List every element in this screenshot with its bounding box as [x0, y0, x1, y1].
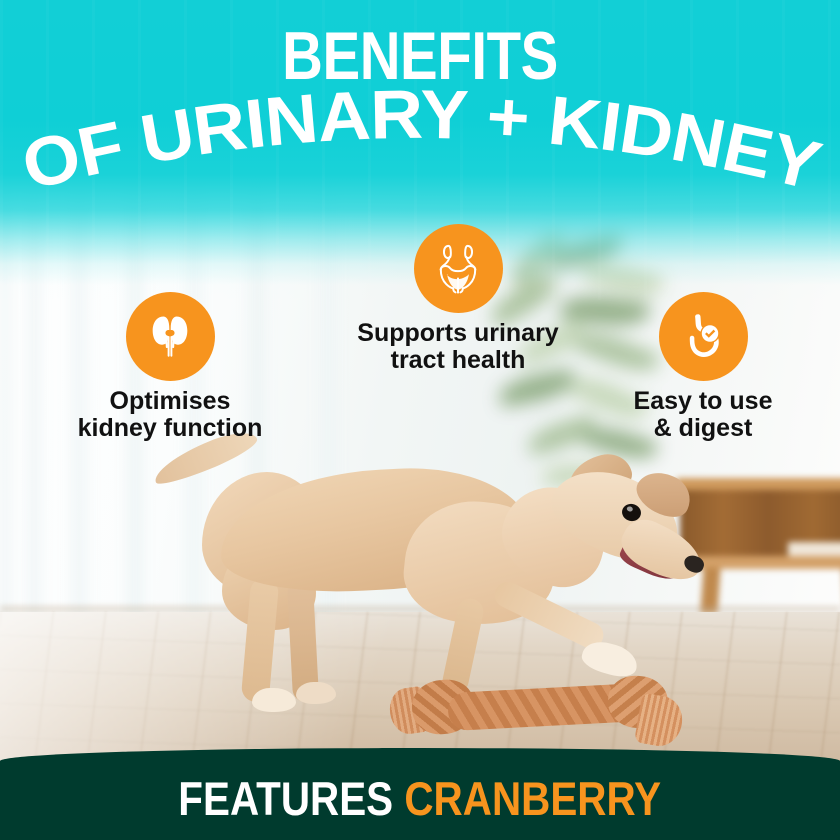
rope-knot-toy: [390, 672, 690, 754]
benefit-label-3-line1: Easy to use: [634, 388, 773, 415]
page-title: BENEFITS OF URINARY + KIDNEY: [0, 0, 840, 200]
benefit-label-1-line2: kidney function: [78, 415, 263, 442]
features-word: FEATURES: [179, 772, 394, 825]
benefit-icon-badge-2: [414, 224, 503, 313]
features-banner: FEATURES CRANBERRY: [0, 748, 840, 840]
benefit-label-2-line1: Supports urinary: [357, 320, 558, 347]
kidneys-icon: [142, 309, 198, 365]
benefits-poster: BENEFITS OF URINARY + KIDNEY: [0, 0, 840, 840]
benefit-label-2: Supports urinary tract health: [357, 320, 558, 374]
benefit-label-1-line1: Optimises: [78, 388, 263, 415]
title-line-1: BENEFITS: [71, 22, 768, 90]
benefit-icon-badge-1: [126, 292, 215, 381]
stomach-check-icon: [675, 309, 731, 365]
benefit-item-urinary[interactable]: Supports urinary tract health: [358, 224, 558, 313]
title-line-2-arc: OF URINARY + KIDNEY: [0, 88, 840, 198]
benefit-item-kidney[interactable]: Optimises kidney function: [80, 292, 260, 381]
wooden-bench: [676, 478, 840, 613]
features-banner-text: FEATURES CRANBERRY: [179, 771, 662, 826]
benefit-label-2-line2: tract health: [357, 347, 558, 374]
benefit-item-digest[interactable]: Easy to use & digest: [610, 292, 796, 381]
benefit-label-3-line2: & digest: [634, 415, 773, 442]
cranberry-word: CRANBERRY: [405, 772, 662, 825]
svg-text:OF URINARY + KIDNEY: OF URINARY + KIDNEY: [15, 88, 828, 198]
title-line-2-text: OF URINARY + KIDNEY: [15, 88, 828, 198]
benefit-icon-badge-3: [659, 292, 748, 381]
benefit-label-3: Easy to use & digest: [634, 388, 773, 442]
urinary-tract-icon: [429, 240, 487, 298]
benefit-label-1: Optimises kidney function: [78, 388, 263, 442]
